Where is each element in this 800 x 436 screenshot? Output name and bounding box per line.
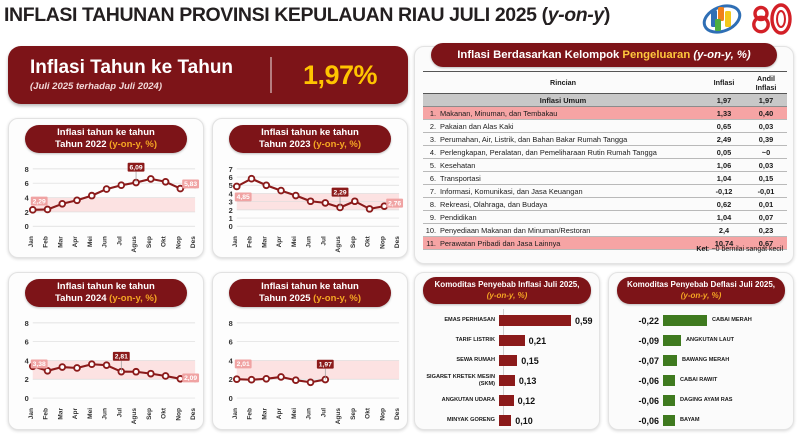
svg-text:8: 8	[229, 319, 233, 328]
table-row: 1.Makanan, Minuman, dan Tembakau1,330,40	[423, 107, 787, 120]
svg-text:Okt: Okt	[161, 235, 168, 247]
commodity-inflation-title-line1: Komoditas Penyebab Inflasi Juli 2025,	[435, 280, 580, 291]
svg-text:Nop: Nop	[379, 408, 386, 421]
svg-text:3,38: 3,38	[33, 361, 46, 368]
commodity-bar	[499, 355, 517, 366]
table-row: 2.Pakaian dan Alas Kaki0,650,03	[423, 120, 787, 133]
row-inflasi: 2,49	[703, 133, 745, 146]
svg-text:Mei: Mei	[291, 236, 298, 247]
commodity-bar	[663, 315, 707, 326]
commodity-label: CABAI MERAH	[712, 317, 752, 323]
row-label: Rekreasi, Olahraga, dan Budaya	[438, 198, 703, 211]
list-item: -0,06DAGING AYAM RAS	[613, 391, 789, 410]
table-row: 8.Rekreasi, Olahraga, dan Budaya0,620,01	[423, 198, 787, 211]
svg-text:Jun: Jun	[306, 236, 313, 248]
commodity-value: 0,15	[521, 356, 539, 366]
svg-text:6,09: 6,09	[130, 164, 143, 171]
svg-text:Mar: Mar	[57, 408, 64, 420]
row-inflasi: 1,06	[703, 159, 745, 172]
headline-title: Inflasi Tahun ke Tahun	[30, 58, 270, 78]
headline-value: 1,97%	[272, 60, 408, 91]
chart-2023-title-pill: Inflasi tahun ke tahun Tahun 2023 (y-on-…	[229, 125, 391, 153]
svg-text:Des: Des	[190, 408, 197, 420]
row-number: 1.	[423, 107, 438, 120]
row-number: 8.	[423, 198, 438, 211]
row-label: Perawatan Pribadi dan Jasa Lainnya	[438, 237, 703, 250]
list-item: -0,09ANGKUTAN LAUT	[613, 331, 789, 350]
svg-text:3: 3	[229, 198, 233, 207]
col-header-andil: Andil Inflasi	[745, 72, 787, 94]
commodity-value: 0,21	[529, 336, 547, 346]
svg-text:Okt: Okt	[365, 235, 372, 247]
row-label: Makanan, Minuman, dan Tembakau	[438, 107, 703, 120]
commodity-deflation-title-pill: Komoditas Penyebab Deflasi Juli 2025, (y…	[617, 277, 785, 304]
row-andil: 0,01	[745, 198, 787, 211]
page-title-tail: )	[604, 4, 610, 26]
svg-text:Jul: Jul	[320, 236, 327, 246]
svg-text:Okt: Okt	[161, 407, 168, 419]
svg-text:2: 2	[25, 375, 29, 384]
commodity-label: DAGING AYAM RAS	[680, 397, 733, 403]
svg-text:5,83: 5,83	[184, 181, 197, 188]
svg-text:6: 6	[229, 173, 233, 182]
table-row: 10.Penyediaan Makanan dan Minuman/Restor…	[423, 224, 787, 237]
row-andil: 0,23	[745, 224, 787, 237]
chart-2025-subtitle: Tahun 2025 (y-on-y, %)	[259, 293, 361, 305]
commodity-bar	[499, 315, 571, 326]
row-andil: 0,07	[745, 211, 787, 224]
svg-text:2,76: 2,76	[388, 200, 401, 207]
chart-2022-plot: 02468JanFebMarAprMeiJunJulAgusSepOktNopD…	[9, 155, 203, 256]
expenditure-table-head: Rincian Inflasi Andil Inflasi	[423, 72, 787, 94]
row-inflasi: 1,04	[703, 211, 745, 224]
svg-text:Apr: Apr	[276, 408, 283, 420]
chart-2022-title-pill: Inflasi tahun ke tahun Tahun 2022 (y-on-…	[25, 125, 187, 153]
row-inflasi: 0,62	[703, 198, 745, 211]
row-inflasi: 0,05	[703, 146, 745, 159]
svg-text:Jul: Jul	[116, 236, 123, 246]
list-item: ANGKUTAN UDARA0,12	[419, 391, 595, 410]
row-label: Penyediaan Makanan dan Minuman/Restoran	[438, 224, 703, 237]
row-andil: -0,01	[745, 185, 787, 198]
svg-text:Mar: Mar	[261, 408, 268, 420]
chart-card-2022: Inflasi tahun ke tahun Tahun 2022 (y-on-…	[8, 118, 204, 258]
expenditure-panel: Inflasi Berdasarkan Kelompok Pengeluaran…	[414, 46, 794, 264]
svg-text:Okt: Okt	[365, 407, 372, 419]
svg-text:2,81: 2,81	[115, 354, 128, 361]
table-row: 3.Perumahan, Air, Listrik, dan Bahan Bak…	[423, 133, 787, 146]
table-row-total: Inflasi Umum1,971,97	[423, 94, 787, 107]
commodity-bar	[663, 355, 677, 366]
row-andil: ~0	[745, 146, 787, 159]
list-item: SEWA RUMAH0,15	[419, 351, 595, 370]
svg-text:Feb: Feb	[247, 408, 254, 420]
svg-text:Jan: Jan	[28, 408, 35, 419]
svg-text:0: 0	[25, 394, 29, 403]
row-label: Kesehatan	[438, 159, 703, 172]
total-andil: 1,97	[745, 94, 787, 107]
commodity-bar	[499, 395, 514, 406]
commodity-label: ANGKUTAN LAUT	[686, 337, 734, 343]
svg-text:0: 0	[229, 394, 233, 403]
chart-2025-plot: 02468JanFebMarAprMeiJunJulAgusSepOktNopD…	[213, 309, 407, 428]
row-number: 6.	[423, 172, 438, 185]
row-label: Informasi, Komunikasi, dan Jasa Keuangan	[438, 185, 703, 198]
svg-text:Des: Des	[394, 408, 401, 420]
svg-text:Nop: Nop	[379, 236, 386, 249]
expenditure-table-body: Inflasi Umum1,971,971.Makanan, Minuman, …	[423, 94, 787, 250]
svg-text:0: 0	[229, 222, 233, 231]
expenditure-table: Rincian Inflasi Andil Inflasi Inflasi Um…	[423, 71, 787, 250]
list-item: SIGARET KRETEK MESIN (SKM)0,13	[419, 371, 595, 390]
commodity-label: BAYAM	[680, 417, 699, 423]
row-label: Perlengkapan, Peralatan, dan Pemeliharaa…	[438, 146, 703, 159]
svg-text:2: 2	[25, 208, 29, 217]
svg-text:0: 0	[25, 222, 29, 231]
svg-text:Jun: Jun	[102, 408, 109, 420]
chart-2025-title: Inflasi tahun ke tahun	[261, 281, 359, 293]
svg-text:Mei: Mei	[291, 408, 298, 419]
commodity-inflation-list: EMAS PERHIASAN0,59TARIF LISTRIK0,21SEWA …	[419, 311, 595, 431]
svg-text:2,29: 2,29	[334, 189, 347, 196]
table-row: 7.Informasi, Komunikasi, dan Jasa Keuang…	[423, 185, 787, 198]
chart-2022-title: Inflasi tahun ke tahun	[57, 127, 155, 139]
chart-2024-subtitle: Tahun 2024 (y-on-y, %)	[55, 293, 157, 305]
list-item: EMAS PERHIASAN0,59	[419, 311, 595, 330]
row-inflasi: 0,65	[703, 120, 745, 133]
commodity-deflation-title-line2: (y-on-y, %)	[681, 291, 722, 302]
svg-text:Feb: Feb	[43, 408, 50, 420]
svg-text:6: 6	[229, 338, 233, 347]
svg-text:Agus: Agus	[131, 408, 138, 425]
svg-text:Feb: Feb	[43, 236, 50, 248]
svg-text:2: 2	[229, 206, 233, 215]
commodity-inflation-title-pill: Komoditas Penyebab Inflasi Juli 2025, (y…	[423, 277, 591, 304]
row-number: 5.	[423, 159, 438, 172]
svg-text:Jan: Jan	[232, 236, 239, 247]
svg-text:Jun: Jun	[306, 408, 313, 420]
table-note-label: Ket	[696, 246, 707, 253]
commodity-value: 0,13	[519, 376, 537, 386]
svg-text:Apr: Apr	[276, 236, 283, 248]
list-item: -0,07BAWANG MERAH	[613, 351, 789, 370]
commodity-bar	[663, 335, 681, 346]
anniversary-80-logo-icon	[748, 3, 794, 35]
col-header-rincian: Rincian	[423, 72, 703, 94]
row-label: Pendidikan	[438, 211, 703, 224]
commodity-bar	[663, 415, 675, 426]
svg-text:Des: Des	[190, 236, 197, 248]
svg-text:4,85: 4,85	[237, 194, 250, 201]
row-number: 10.	[423, 224, 438, 237]
chart-2023-plot: 01234567JanFebMarAprMeiJunJulAgusSepOktN…	[213, 155, 407, 256]
svg-text:4: 4	[229, 356, 234, 365]
commodity-deflation-list: -0,22CABAI MERAH-0,09ANGKUTAN LAUT-0,07B…	[613, 311, 789, 431]
svg-text:Jan: Jan	[232, 408, 239, 419]
commodity-inflation-title-line2: (y-on-y, %)	[487, 291, 528, 302]
svg-text:Sep: Sep	[350, 236, 357, 248]
svg-text:Apr: Apr	[72, 236, 79, 248]
svg-text:Nop: Nop	[175, 408, 182, 421]
svg-text:7: 7	[229, 165, 233, 174]
commodity-bar	[663, 375, 675, 386]
svg-text:Sep: Sep	[350, 408, 357, 420]
headline-text-block: Inflasi Tahun ke Tahun (Juli 2025 terhad…	[8, 58, 270, 92]
row-andil: 0,40	[745, 107, 787, 120]
col-header-inflasi: Inflasi	[703, 72, 745, 94]
page-title-italic: y-on-y	[548, 4, 604, 26]
commodity-deflation-panel: Komoditas Penyebab Deflasi Juli 2025, (y…	[608, 272, 794, 430]
svg-text:2: 2	[229, 375, 233, 384]
total-label: Inflasi Umum	[423, 94, 703, 107]
svg-text:8: 8	[25, 319, 29, 328]
commodity-value: -0,06	[613, 376, 659, 386]
commodity-bar	[499, 375, 515, 386]
svg-text:2,09: 2,09	[184, 375, 197, 382]
svg-text:8: 8	[25, 165, 29, 174]
svg-text:4: 4	[229, 189, 234, 198]
svg-text:Agus: Agus	[335, 236, 342, 253]
svg-text:6: 6	[25, 179, 29, 188]
row-number: 2.	[423, 120, 438, 133]
commodity-bar	[499, 415, 511, 426]
svg-text:Jan: Jan	[28, 236, 35, 247]
commodity-bar	[663, 395, 675, 406]
svg-text:2,29: 2,29	[33, 198, 46, 205]
svg-text:Sep: Sep	[146, 408, 153, 420]
row-label: Transportasi	[438, 172, 703, 185]
svg-text:Agus: Agus	[131, 236, 138, 253]
chart-2025-title-pill: Inflasi tahun ke tahun Tahun 2025 (y-on-…	[229, 279, 391, 307]
commodity-label: EMAS PERHIASAN	[419, 317, 499, 323]
row-andil: 0,39	[745, 133, 787, 146]
headline-divider	[270, 57, 272, 93]
svg-text:2,01: 2,01	[237, 361, 250, 368]
svg-text:Mar: Mar	[57, 236, 64, 248]
list-item: MINYAK GORENG0,10	[419, 411, 595, 430]
chart-2023-title: Inflasi tahun ke tahun	[261, 127, 359, 139]
commodity-value: -0,07	[613, 356, 659, 366]
chart-2024-plot: 02468JanFebMarAprMeiJunJulAgusSepOktNopD…	[9, 309, 203, 428]
svg-text:Mei: Mei	[87, 236, 94, 247]
commodity-value: 0,59	[575, 316, 593, 326]
commodity-label: TARIF LISTRIK	[419, 337, 499, 343]
commodity-inflation-panel: Komoditas Penyebab Inflasi Juli 2025, (y…	[414, 272, 600, 430]
page-title: INFLASI TAHUNAN PROVINSI KEPULAUAN RIAU …	[4, 4, 610, 27]
commodity-label: ANGKUTAN UDARA	[419, 397, 499, 403]
row-inflasi: 1,33	[703, 107, 745, 120]
svg-text:Feb: Feb	[247, 236, 254, 248]
expenditure-title-pill: Inflasi Berdasarkan Kelompok Pengeluaran…	[431, 43, 777, 67]
row-number: 3.	[423, 133, 438, 146]
chart-card-2023: Inflasi tahun ke tahun Tahun 2023 (y-on-…	[212, 118, 408, 258]
row-andil: 0,15	[745, 172, 787, 185]
row-label: Perumahan, Air, Listrik, dan Bahan Bakar…	[438, 133, 703, 146]
list-item: -0,06BAYAM	[613, 411, 789, 430]
list-item: -0,06CABAI RAWIT	[613, 371, 789, 390]
svg-text:Nop: Nop	[175, 236, 182, 249]
row-label: Pakaian dan Alas Kaki	[438, 120, 703, 133]
commodity-value: 0,10	[515, 416, 533, 426]
row-andil: 0,03	[745, 159, 787, 172]
commodity-label: MINYAK GORENG	[419, 417, 499, 423]
svg-text:Apr: Apr	[72, 408, 79, 420]
row-number: 9.	[423, 211, 438, 224]
row-inflasi: -0,12	[703, 185, 745, 198]
chart-2023-subtitle: Tahun 2023 (y-on-y, %)	[259, 139, 361, 151]
expenditure-title: Inflasi Berdasarkan Kelompok Pengeluaran…	[457, 49, 750, 61]
svg-text:Des: Des	[394, 236, 401, 248]
headline-subtitle: (Juli 2025 terhadap Juli 2024)	[30, 81, 270, 92]
logo-area	[702, 2, 794, 36]
svg-text:1,97: 1,97	[319, 361, 332, 368]
headline-card: Inflasi Tahun ke Tahun (Juli 2025 terhad…	[8, 46, 408, 104]
table-row: 5.Kesehatan1,060,03	[423, 159, 787, 172]
chart-card-2024: Inflasi tahun ke tahun Tahun 2024 (y-on-…	[8, 272, 204, 430]
svg-text:Mei: Mei	[87, 408, 94, 419]
bps-logo-icon	[702, 2, 742, 36]
commodity-value: 0,12	[518, 396, 536, 406]
row-number: 11.	[423, 237, 438, 250]
svg-text:Jul: Jul	[116, 408, 123, 418]
commodity-value: -0,06	[613, 396, 659, 406]
page-header: INFLASI TAHUNAN PROVINSI KEPULAUAN RIAU …	[0, 0, 800, 40]
row-inflasi: 1,04	[703, 172, 745, 185]
commodity-label: CABAI RAWIT	[680, 377, 717, 383]
table-row: 6.Transportasi1,040,15	[423, 172, 787, 185]
table-header-row: Rincian Inflasi Andil Inflasi	[423, 72, 787, 94]
svg-text:Agus: Agus	[335, 408, 342, 425]
commodity-bar	[499, 335, 525, 346]
table-note-text: : ~0 bernilai sangat kecil	[708, 246, 783, 253]
row-number: 4.	[423, 146, 438, 159]
row-number: 7.	[423, 185, 438, 198]
commodity-label: BAWANG MERAH	[682, 357, 729, 363]
table-row: 4.Perlengkapan, Peralatan, dan Pemelihar…	[423, 146, 787, 159]
row-inflasi: 2,4	[703, 224, 745, 237]
list-item: -0,22CABAI MERAH	[613, 311, 789, 330]
list-item: TARIF LISTRIK0,21	[419, 331, 595, 350]
total-inflasi: 1,97	[703, 94, 745, 107]
commodity-label: SIGARET KRETEK MESIN (SKM)	[419, 374, 499, 387]
svg-text:1: 1	[229, 214, 233, 223]
commodity-value: -0,22	[613, 316, 659, 326]
chart-2022-subtitle: Tahun 2022 (y-on-y, %)	[55, 139, 157, 151]
svg-text:6: 6	[25, 338, 29, 347]
row-andil: 0,03	[745, 120, 787, 133]
svg-text:Sep: Sep	[146, 236, 153, 248]
commodity-label: SEWA RUMAH	[419, 357, 499, 363]
svg-text:Jun: Jun	[102, 236, 109, 248]
table-row: 9.Pendidikan1,040,07	[423, 211, 787, 224]
svg-text:Jul: Jul	[320, 408, 327, 418]
chart-card-2025: Inflasi tahun ke tahun Tahun 2025 (y-on-…	[212, 272, 408, 430]
commodity-value: -0,09	[613, 336, 659, 346]
svg-text:5: 5	[229, 181, 233, 190]
commodity-value: -0,06	[613, 416, 659, 426]
chart-2024-title: Inflasi tahun ke tahun	[57, 281, 155, 293]
svg-text:4: 4	[25, 194, 30, 203]
svg-text:4: 4	[25, 356, 30, 365]
commodity-deflation-title-line1: Komoditas Penyebab Deflasi Juli 2025,	[627, 280, 775, 291]
chart-2024-title-pill: Inflasi tahun ke tahun Tahun 2024 (y-on-…	[25, 279, 187, 307]
svg-text:Mar: Mar	[261, 236, 268, 248]
table-note: Ket: ~0 bernilai sangat kecil	[696, 246, 783, 253]
page-title-main: INFLASI TAHUNAN PROVINSI KEPULAUAN RIAU …	[4, 4, 548, 26]
